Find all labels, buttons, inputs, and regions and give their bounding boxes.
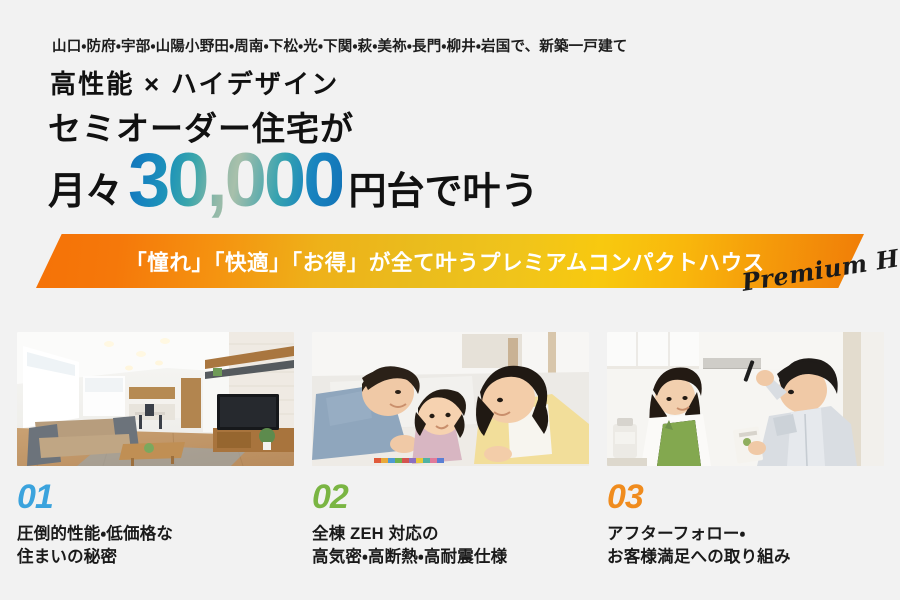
card-text-03-line2: お客様満足への取り組み [607, 546, 884, 569]
photo-living-room [17, 332, 294, 466]
card-text-02-line1: 全棟 ZEH 対応の [312, 523, 589, 546]
price-prefix: 月々 [48, 173, 122, 211]
card-text-02: 全棟 ZEH 対応の 高気密・高断熱・高耐震仕様 [312, 523, 589, 570]
card-number-03: 03 [607, 480, 884, 514]
feature-card-01[interactable]: 01 圧倒的性能・低価格な 住まいの秘密 [17, 332, 294, 570]
price-amount: 30,000 [128, 143, 342, 219]
feature-card-03[interactable]: 03 アフターフォロー・ お客様満足への取り組み [607, 332, 884, 570]
feature-card-list: 01 圧倒的性能・低価格な 住まいの秘密 [17, 332, 883, 570]
tagline: 高性能 × ハイデザイン [50, 64, 340, 101]
card-text-03: アフターフォロー・ お客様満足への取り組み [607, 523, 884, 570]
card-text-01-line1: 圧倒的性能・低価格な [17, 523, 294, 546]
family-illustration [312, 332, 589, 466]
feature-card-02[interactable]: 02 全棟 ZEH 対応の 高気密・高断熱・高耐震仕様 [312, 332, 589, 570]
card-text-01: 圧倒的性能・低価格な 住まいの秘密 [17, 523, 294, 570]
ribbon-banner: 「憧れ」「快適」「お得」が全て叶うプレミアムコンパクトハウス [36, 234, 864, 288]
card-text-02-line2: 高気密・高断熱・高耐震仕様 [312, 546, 589, 569]
ribbon-label: 「憧れ」「快適」「お得」が全て叶うプレミアムコンパクトハウス [36, 234, 864, 288]
card-number-02: 02 [312, 480, 589, 514]
card-number-01: 01 [17, 480, 294, 514]
photo-family [312, 332, 589, 466]
photo-after-service [607, 332, 884, 466]
price-headline: 月々 30,000 円台で叶う [48, 143, 538, 219]
card-text-01-line2: 住まいの秘密 [17, 546, 294, 569]
price-suffix: 円台で叶う [348, 173, 538, 211]
service-area-line: 山口・防府・宇部・山陽小野田・周南・下松・光・下関・萩・美祢・長門・柳井・岩国で… [52, 35, 627, 56]
living-room-illustration [17, 332, 294, 466]
after-service-illustration [607, 332, 884, 466]
card-text-03-line1: アフターフォロー・ [607, 523, 884, 546]
promo-banner: 山口・防府・宇部・山陽小野田・周南・下松・光・下関・萩・美祢・長門・柳井・岩国で… [0, 0, 900, 600]
